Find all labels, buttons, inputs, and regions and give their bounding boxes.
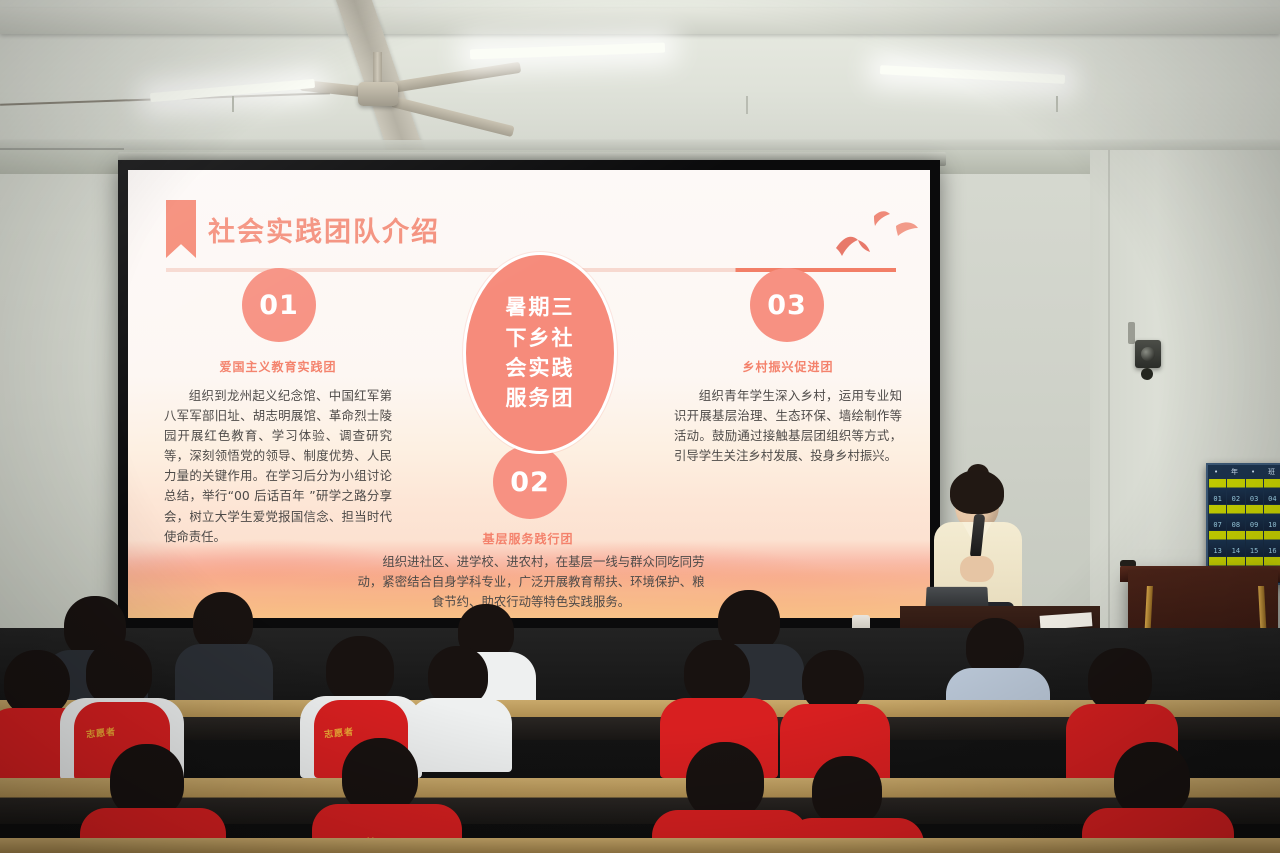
screenshot-root: • 年 • 班 01 02 03 04 07 08 09 10 13 14 15… bbox=[0, 0, 1280, 853]
vest-text: 志愿者 bbox=[85, 724, 116, 740]
camera-lens-icon bbox=[1141, 347, 1155, 361]
board-cell: 07 bbox=[1209, 505, 1226, 530]
presentation-slide: 社会实践团队介绍 01 03 02 暑期三下乡社会实践服务团 爱国主义教育实践团… bbox=[128, 170, 930, 618]
audience-torso bbox=[175, 644, 273, 704]
bookmark-ribbon-icon bbox=[166, 200, 196, 258]
flying-birds-icon bbox=[818, 206, 928, 262]
board-cell: 16 bbox=[1264, 531, 1280, 556]
bench-desk-row-3 bbox=[0, 838, 1280, 853]
audience-head bbox=[1114, 742, 1190, 818]
audience-head bbox=[686, 742, 764, 820]
board-cell: 15 bbox=[1246, 531, 1263, 556]
center-badge-label: 暑期三下乡社会实践服务团 bbox=[496, 292, 584, 414]
presenter-hair bbox=[950, 470, 1004, 514]
projection-screen: 社会实践团队介绍 01 03 02 暑期三下乡社会实践服务团 爱国主义教育实践团… bbox=[118, 160, 940, 628]
light-hanger bbox=[1056, 96, 1058, 112]
board-cell: 01 bbox=[1209, 479, 1226, 504]
board-cell: 02 bbox=[1227, 479, 1244, 504]
light-hanger bbox=[746, 96, 748, 114]
camera-knob bbox=[1141, 368, 1153, 380]
camera-mount-arm bbox=[1128, 322, 1135, 344]
presenter-hands bbox=[960, 556, 994, 582]
center-badge: 暑期三下乡社会实践服务团 bbox=[463, 252, 617, 454]
board-cell: 14 bbox=[1227, 531, 1244, 556]
ceiling-beam-horizontal bbox=[0, 8, 1280, 34]
column-body-01: 组织到龙州起义纪念馆、中国红军第八军军部旧址、胡志明展馆、革命烈士陵园开展红色教… bbox=[164, 386, 392, 547]
board-cell: 10 bbox=[1264, 505, 1280, 530]
audience-head bbox=[684, 640, 750, 706]
column-heading-01: 爱国主义教育实践团 bbox=[188, 358, 368, 375]
audience-head bbox=[193, 592, 253, 652]
ceiling-fan-rod bbox=[373, 52, 382, 84]
audience-head bbox=[1088, 648, 1152, 712]
step-number-circle-03: 03 bbox=[750, 268, 824, 342]
board-cell: 04 bbox=[1264, 479, 1280, 504]
audience-head bbox=[812, 756, 882, 826]
board-header-cell: • bbox=[1251, 468, 1256, 476]
audience-head bbox=[110, 744, 184, 818]
step-number-circle-01: 01 bbox=[242, 268, 316, 342]
ceiling-fan-icon bbox=[358, 82, 398, 106]
audience-head bbox=[86, 640, 152, 706]
audience-torso bbox=[408, 698, 512, 772]
column-heading-02: 基层服务践行团 bbox=[438, 530, 618, 547]
board-cell: 08 bbox=[1227, 505, 1244, 530]
light-hanger bbox=[232, 96, 234, 112]
wall-seam bbox=[1108, 150, 1110, 630]
board-cell: 03 bbox=[1246, 479, 1263, 504]
audience-head bbox=[326, 636, 394, 704]
audience-head bbox=[802, 650, 864, 712]
audience-head bbox=[4, 650, 70, 716]
slide-title: 社会实践团队介绍 bbox=[208, 210, 440, 249]
board-header-cell: 年 bbox=[1231, 467, 1239, 477]
board-cell: 13 bbox=[1209, 531, 1226, 556]
board-header-cell: • bbox=[1214, 468, 1219, 476]
audience-head bbox=[342, 738, 418, 814]
column-body-03: 组织青年学生深入乡村，运用专业知识开展基层治理、生态环保、墙绘制作等活动。鼓励通… bbox=[674, 386, 902, 466]
vest-text: 志愿者 bbox=[323, 724, 354, 740]
board-cell: 09 bbox=[1246, 505, 1263, 530]
step-number-circle-02: 02 bbox=[493, 445, 567, 519]
board-header-row: • 年 • 班 bbox=[1208, 465, 1280, 478]
wall-seam bbox=[0, 148, 124, 150]
audience-head bbox=[428, 646, 488, 706]
board-header-cell: 班 bbox=[1268, 467, 1276, 477]
column-heading-03: 乡村振兴促进团 bbox=[698, 358, 878, 375]
column-body-02: 组织进社区、进学校、进农村，在基层一线与群众同吃同劳动，紧密结合自身学科专业，广… bbox=[356, 552, 706, 612]
